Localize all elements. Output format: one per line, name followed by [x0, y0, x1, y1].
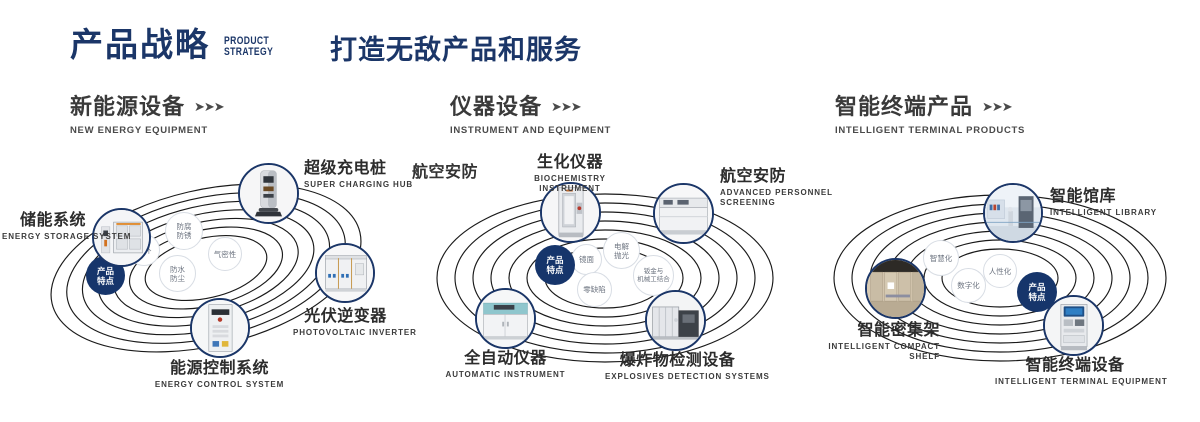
product-photo-control-cabinet[interactable]: [190, 298, 250, 358]
page-subtitle: 打造无敌产品和服务: [330, 34, 582, 66]
overlap-label-aviation-security: 航空安防: [412, 164, 478, 182]
section-title-intelligent-terminal: 智能终端产品 ➤➤➤ INTELLIGENT TERMINAL PRODUCTS: [835, 96, 1025, 136]
product-photo-screening-machine[interactable]: [653, 183, 714, 244]
feature-bubble: 数字化: [951, 268, 986, 303]
core-badge-label: 产品特点: [546, 255, 563, 275]
compact-shelf-photo: [867, 260, 924, 317]
product-caption-control-cabinet: 能源控制系统 ENERGY CONTROL SYSTEM: [142, 360, 297, 390]
product-caption-en: SUPER CHARGING HUB: [304, 180, 413, 190]
library-interior-photo: [985, 185, 1041, 241]
product-caption-en: INTELLIGENT TERMINAL EQUIPMENT: [995, 377, 1155, 387]
chevron-right-icon: ➤➤➤: [982, 99, 1012, 115]
product-caption-cn: 光伏逆变器: [293, 308, 398, 326]
page-title-en: PRODUCT STRATEGY: [224, 36, 273, 61]
screening-machine-photo: [655, 185, 712, 242]
product-caption-en: ENERGY STORAGE SYSTEM: [2, 232, 86, 242]
feature-bubble: 智慧化: [923, 240, 959, 276]
product-caption-compact-shelf: 智能密集架 INTELLIGENT COMPACTSHELF: [790, 322, 940, 362]
product-caption-charging-pile: 超级充电桩 SUPER CHARGING HUB: [304, 160, 413, 190]
section-title-cn: 智能终端产品: [835, 96, 973, 118]
page-title-cn: 产品战略: [70, 28, 210, 61]
product-caption-cn: 智能终端设备: [995, 357, 1155, 375]
group-intelligent-terminal-products: 智慧化 数字化 人性化 产品特点: [795, 150, 1195, 415]
charging-pile-photo: [240, 165, 297, 222]
feature-bubble-label: 智慧化: [930, 254, 953, 263]
product-photo-kiosk-terminal[interactable]: [1043, 295, 1104, 356]
product-caption-en: INTELLIGENT COMPACTSHELF: [790, 342, 940, 362]
product-caption-library: 智能馆库 INTELLIGENT LIBRARY: [1050, 188, 1157, 218]
product-caption-biochemistry-instrument: 生化仪器 BIOCHEMISTRYINSTRUMENT: [525, 154, 615, 194]
feature-bubble-label: 人性化: [989, 267, 1012, 276]
product-caption-en: AUTOMATIC INSTRUMENT: [433, 370, 578, 380]
product-photo-charging-pile[interactable]: [238, 163, 299, 224]
product-photo-explosives-detector[interactable]: [645, 290, 706, 351]
section-title-en: INTELLIGENT TERMINAL PRODUCTS: [835, 125, 1025, 136]
product-photo-pv-inverter[interactable]: [315, 243, 375, 303]
automatic-instrument-photo: [477, 290, 534, 347]
product-caption-en: INTELLIGENT LIBRARY: [1050, 208, 1157, 218]
product-caption-en: ENERGY CONTROL SYSTEM: [142, 380, 297, 390]
core-badge-label: 产品特点: [97, 266, 114, 286]
product-caption-en: BIOCHEMISTRYINSTRUMENT: [525, 174, 615, 194]
page-title-en-line2: STRATEGY: [224, 47, 273, 58]
product-caption-cn: 爆炸物检测设备: [605, 352, 750, 370]
product-caption-cn: 全自动仪器: [433, 350, 578, 368]
product-caption-battery-cabinet: 储能系统 ENERGY STORAGE SYSTEM: [2, 212, 86, 242]
product-caption-cn: 能源控制系统: [142, 360, 297, 378]
feature-bubble-label: 电解抛光: [614, 242, 629, 260]
section-title-en: INSTRUMENT AND EQUIPMENT: [450, 125, 611, 136]
product-caption-cn: 超级充电桩: [304, 160, 413, 178]
control-cabinet-photo: [192, 300, 248, 356]
product-caption-en: EXPLOSIVES DETECTION SYSTEMS: [605, 372, 750, 382]
product-caption-kiosk-terminal: 智能终端设备 INTELLIGENT TERMINAL EQUIPMENT: [995, 357, 1155, 387]
product-photo-automatic-instrument[interactable]: [475, 288, 536, 349]
product-photo-library-interior[interactable]: [983, 183, 1043, 243]
feature-bubble: 电解抛光: [603, 232, 640, 269]
feature-bubble: 气密性: [208, 237, 242, 271]
feature-bubble: 防水防尘: [159, 255, 196, 292]
explosives-detector-photo: [647, 292, 704, 349]
section-title-cn: 新能源设备: [70, 96, 185, 118]
product-caption-automatic-instrument: 全自动仪器 AUTOMATIC INSTRUMENT: [433, 350, 578, 380]
section-title-instrument: 仪器设备 ➤➤➤ INSTRUMENT AND EQUIPMENT: [450, 96, 611, 136]
section-title-new-energy: 新能源设备 ➤➤➤ NEW ENERGY EQUIPMENT: [70, 96, 224, 136]
product-caption-cn: 智能馆库: [1050, 188, 1157, 206]
pv-inverter-photo: [317, 245, 373, 301]
feature-bubble: 零缺陷: [577, 272, 612, 307]
overlap-label-cn: 航空安防: [412, 164, 478, 182]
product-caption-cn: 储能系统: [2, 212, 86, 230]
feature-bubble-label: 零缺陷: [583, 285, 606, 294]
chevron-right-icon: ➤➤➤: [194, 99, 224, 115]
feature-bubble-label: 防水防尘: [170, 265, 185, 283]
group-new-energy-equipment: 户外 防腐防锈 防水防尘 气密性 产品特点: [10, 150, 410, 415]
section-title-en: NEW ENERGY EQUIPMENT: [70, 125, 224, 136]
kiosk-terminal-photo: [1045, 297, 1102, 354]
feature-bubble-label: 数字化: [957, 281, 980, 290]
product-caption-en: PHOTOVOLTAIC INVERTER: [293, 328, 398, 338]
page-title: 产品战略 PRODUCT STRATEGY: [70, 28, 287, 61]
core-badge-label: 产品特点: [1028, 282, 1045, 302]
product-caption-cn: 生化仪器: [525, 154, 615, 172]
section-title-cn: 仪器设备: [450, 96, 542, 118]
feature-bubble: 镜面: [571, 244, 602, 275]
product-caption-explosives-detector: 爆炸物检测设备 EXPLOSIVES DETECTION SYSTEMS: [605, 352, 750, 382]
product-caption-pv-inverter: 光伏逆变器 PHOTOVOLTAIC INVERTER: [293, 308, 398, 338]
feature-bubble-label: 防腐防锈: [177, 222, 192, 240]
feature-bubble-label: 镜面: [579, 255, 594, 264]
infographic-canvas: 产品战略 PRODUCT STRATEGY 打造无敌产品和服务 新能源设备 ➤➤…: [0, 0, 1200, 422]
feature-bubble-label: 钣金与机械工结合: [637, 268, 670, 284]
chevron-right-icon: ➤➤➤: [551, 99, 581, 115]
product-caption-cn: 智能密集架: [790, 322, 940, 340]
feature-bubble: 人性化: [983, 254, 1017, 288]
group-instrument-and-equipment: 镜面 电解抛光 零缺陷 钣金与机械工结合 产品特点 航空安防: [405, 150, 805, 415]
feature-bubble-label: 气密性: [214, 250, 237, 259]
product-photo-compact-shelf[interactable]: [865, 258, 926, 319]
feature-bubble: 防腐防锈: [165, 212, 203, 250]
core-badge: 产品特点: [535, 245, 575, 285]
